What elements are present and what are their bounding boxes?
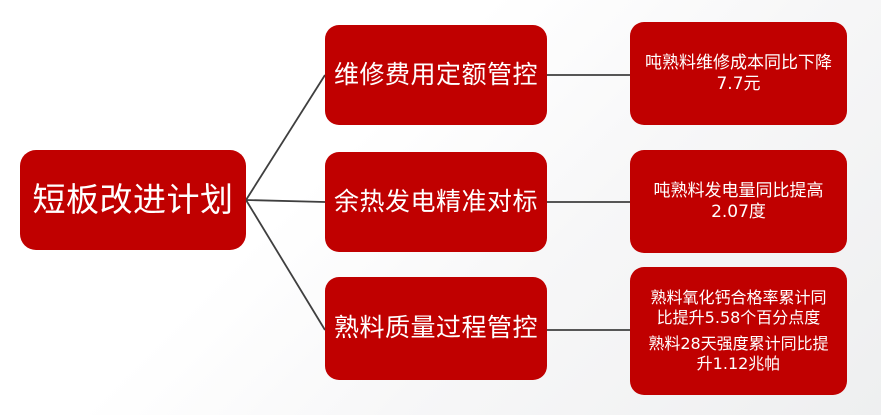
outcome-node-3-paragraph-2: 熟料28天强度累计同比提 升1.12兆帕	[638, 334, 839, 374]
outcome-node-1[interactable]: 吨熟料维修成本同比下降 7.7元	[630, 22, 847, 125]
branch-node-2[interactable]: 余热发电精准对标	[325, 152, 547, 252]
branch-node-1-label: 维修费用定额管控	[325, 60, 547, 91]
branch-node-3[interactable]: 熟料质量过程管控	[325, 277, 547, 380]
outcome-node-3-line-4: 升1.12兆帕	[638, 354, 839, 374]
branch-node-3-label: 熟料质量过程管控	[325, 313, 547, 344]
outcome-node-3[interactable]: 熟料氧化钙合格率累计同 比提升5.58个百分点度 熟料28天强度累计同比提 升1…	[630, 267, 847, 395]
outcome-node-2-line-1: 吨熟料发电量同比提高	[638, 181, 839, 202]
outcome-node-1-line-1: 吨熟料维修成本同比下降	[638, 53, 839, 74]
branch-node-1[interactable]: 维修费用定额管控	[325, 25, 547, 125]
branch-node-2-label: 余热发电精准对标	[325, 187, 547, 218]
outcome-node-3-line-3: 熟料28天强度累计同比提	[638, 334, 839, 354]
root-node[interactable]: 短板改进计划	[20, 150, 246, 250]
outcome-node-3-line-1: 熟料氧化钙合格率累计同	[638, 288, 839, 308]
outcome-node-3-paragraph-1: 熟料氧化钙合格率累计同 比提升5.58个百分点度	[638, 288, 839, 328]
diagram-canvas: 短板改进计划 维修费用定额管控 余热发电精准对标 熟料质量过程管控 吨熟料维修成…	[0, 0, 881, 415]
outcome-node-3-line-2: 比提升5.58个百分点度	[638, 308, 839, 328]
outcome-node-1-line-2: 7.7元	[638, 74, 839, 95]
connector-root-to-branch-1	[246, 75, 325, 200]
root-node-label: 短板改进计划	[20, 180, 246, 220]
outcome-node-2-line-2: 2.07度	[638, 202, 839, 223]
connector-root-to-branch-3	[246, 200, 325, 330]
outcome-node-2[interactable]: 吨熟料发电量同比提高 2.07度	[630, 150, 847, 253]
connector-root-to-branch-2	[246, 200, 325, 202]
